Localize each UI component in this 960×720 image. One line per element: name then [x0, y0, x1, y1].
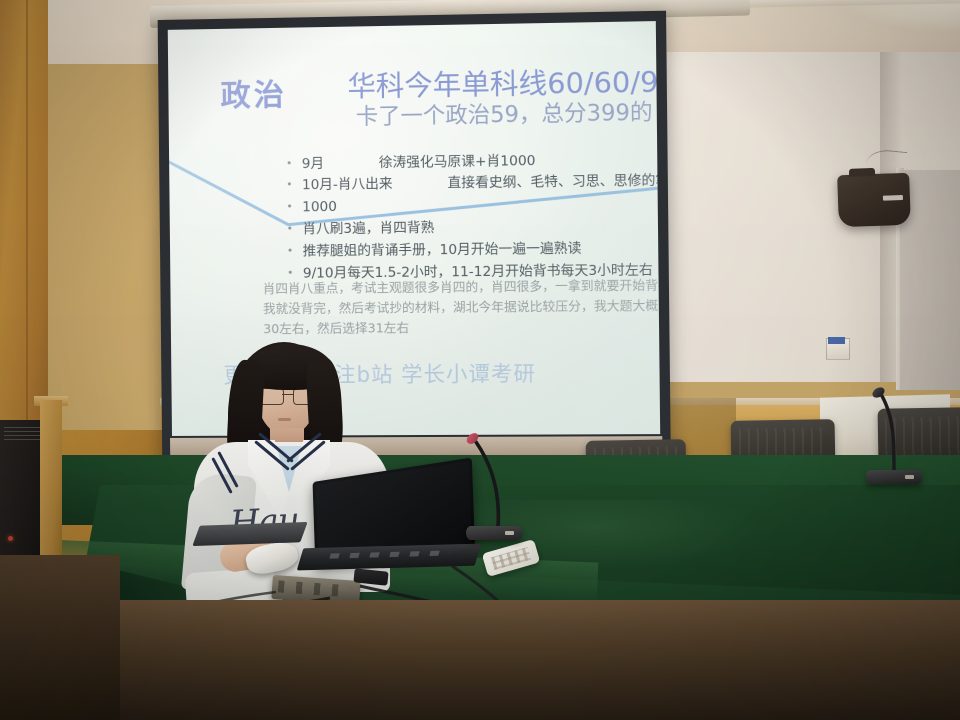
- speaker-brand-badge: [883, 195, 903, 201]
- slide-bullet: 肖八刷3遍，肖四背熟: [286, 215, 660, 241]
- slide-subheadline: 卡了一个政治59，总分399的: [356, 94, 653, 131]
- slide-bullet: 推荐腿姐的背诵手册，10月开始一遍一遍熟读: [286, 237, 660, 263]
- slide-bullet-continuation: 1000: [286, 193, 660, 219]
- microphone-far: [860, 372, 930, 484]
- laptop-base-left: [192, 522, 307, 546]
- microphone-near: [460, 430, 530, 540]
- lecture-room-photo: 政治 华科今年单科线60/60/90/90 卡了一个政治59，总分399的 9月…: [0, 0, 960, 720]
- wall-panel-display: [828, 337, 845, 344]
- floor: [0, 600, 960, 720]
- glasses-bridge: [282, 394, 293, 395]
- slide-subject-title: 政治: [220, 70, 287, 115]
- slide-paragraph: 肖四肖八重点，考试主观题很多肖四的，肖四很多，一拿到就要开始背，我就没背完，然后…: [263, 275, 661, 339]
- glasses-lens-left: [260, 388, 284, 405]
- mic-indicator: [505, 531, 514, 535]
- slide-bullet-list: 9月 徐涛强化马原课+肖1000 10月-肖八出来 直接看史纲、毛特、习思、思修…: [245, 148, 660, 286]
- mic-base: [466, 526, 522, 540]
- mic-base: [866, 470, 922, 484]
- mouth: [278, 418, 291, 421]
- mic-gooseneck: [860, 372, 930, 484]
- rack-power-led: [8, 536, 13, 541]
- power-strip-sockets: [278, 580, 351, 597]
- slide-bullet: 10月-肖八出来 直接看史纲、毛特、习思、思修的笔记+肖: [286, 170, 660, 197]
- mic-indicator: [905, 475, 914, 479]
- speaker-icon: [837, 173, 911, 227]
- floor-left-shadow: [0, 555, 120, 720]
- mic-gooseneck: [460, 430, 530, 540]
